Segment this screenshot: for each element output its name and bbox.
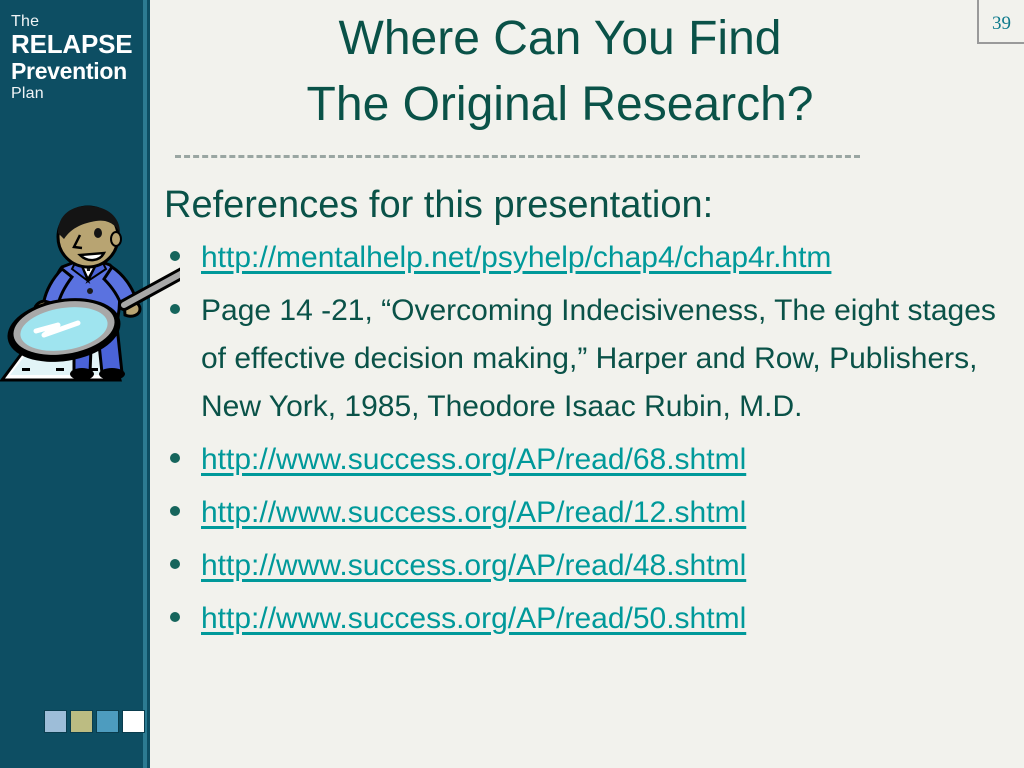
bullet-icon xyxy=(170,506,180,516)
logo-line-the: The xyxy=(11,14,143,30)
reference-list: http://mentalhelp.net/psyhelp/chap4/chap… xyxy=(160,234,1010,643)
reference-link[interactable]: http://www.success.org/AP/read/12.shtml xyxy=(201,496,746,529)
page-title: Where Can You Find The Original Research… xyxy=(160,6,960,138)
slide-canvas: The RELAPSE Prevention Plan xyxy=(0,0,1024,768)
reference-citation: Page 14 -21, “Overcoming Indecisiveness,… xyxy=(201,294,996,423)
list-item: Page 14 -21, “Overcoming Indecisiveness,… xyxy=(160,287,1010,431)
chip-khaki xyxy=(70,710,93,733)
chip-light-blue xyxy=(44,710,67,733)
bullet-icon xyxy=(170,559,180,569)
man-with-magnifying-glass-icon xyxy=(0,205,180,400)
title-divider xyxy=(175,155,860,158)
reference-link[interactable]: http://mentalhelp.net/psyhelp/chap4/chap… xyxy=(201,241,831,274)
list-item[interactable]: http://www.success.org/AP/read/48.shtml xyxy=(160,542,1010,590)
bullet-icon xyxy=(170,453,180,463)
list-item[interactable]: http://mentalhelp.net/psyhelp/chap4/chap… xyxy=(160,234,1010,282)
bullet-icon xyxy=(170,304,180,314)
logo-line-relapse: RELAPSE xyxy=(11,31,143,58)
chip-white xyxy=(122,710,145,733)
page-number: 39 xyxy=(979,13,1024,35)
reference-link[interactable]: http://www.success.org/AP/read/48.shtml xyxy=(201,549,746,582)
slide-content: References for this presentation: http:/… xyxy=(160,183,1010,648)
bullet-icon xyxy=(170,251,180,261)
brand-logo: The RELAPSE Prevention Plan xyxy=(11,14,143,102)
list-item[interactable]: http://www.success.org/AP/read/68.shtml xyxy=(160,436,1010,484)
reference-link[interactable]: http://www.success.org/AP/read/68.shtml xyxy=(201,443,746,476)
color-chip-row xyxy=(44,710,145,733)
logo-line-prevention: Prevention xyxy=(11,58,143,84)
page-number-box: 39 xyxy=(977,0,1024,44)
logo-line-plan: Plan xyxy=(11,86,143,102)
chip-teal-blue xyxy=(96,710,119,733)
list-item[interactable]: http://www.success.org/AP/read/50.shtml xyxy=(160,595,1010,643)
reference-link[interactable]: http://www.success.org/AP/read/50.shtml xyxy=(201,602,746,635)
list-item[interactable]: http://www.success.org/AP/read/12.shtml xyxy=(160,489,1010,537)
bullet-icon xyxy=(170,612,180,622)
intro-heading: References for this presentation: xyxy=(164,183,1010,228)
